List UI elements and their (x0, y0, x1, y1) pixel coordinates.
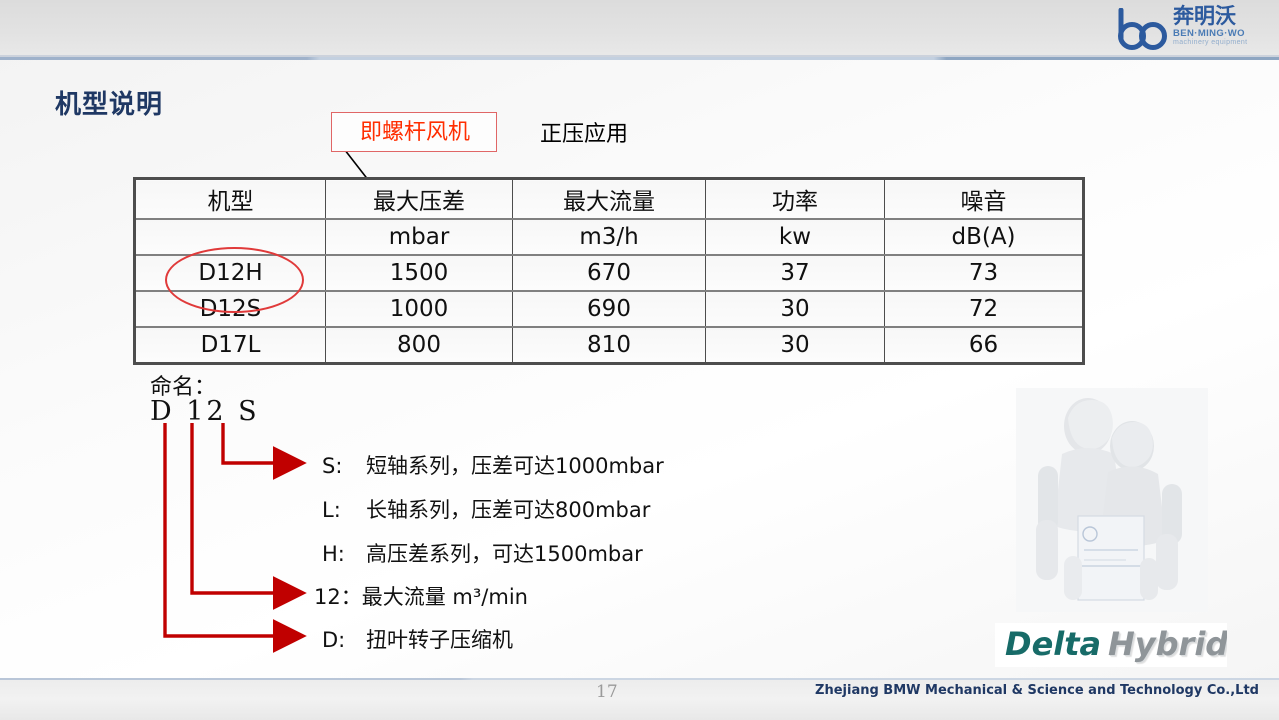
logo-english-name: BEN·MING·WO (1173, 28, 1245, 39)
cell-max-pressure: 800 (326, 327, 513, 364)
cell-model: D17L (135, 327, 326, 364)
legend-item-d: D:扭叶转子压缩机 (322, 624, 513, 654)
legend-desc-h: 高压差系列，可达1500mbar (366, 542, 643, 566)
header-cell-power: 功率 (706, 179, 885, 220)
screw-blower-callout-box: 即螺杆风机 (331, 112, 497, 152)
table-row: D12S 1000 690 30 72 (135, 291, 1084, 327)
logo-chinese-name: 奔明沃 (1173, 5, 1236, 27)
header-cell-model: 机型 (135, 179, 326, 220)
header-cell-max-flow: 最大流量 (513, 179, 706, 220)
unit-cell-max-flow: m3/h (513, 219, 706, 255)
legend-desc-12: 最大流量 m³/min (362, 585, 528, 609)
legend-item-12: 12：最大流量 m³/min (314, 581, 528, 611)
logo-tagline: machinery equipment (1173, 39, 1248, 46)
unit-cell-max-pressure: mbar (326, 219, 513, 255)
legend-key-s: S: (322, 454, 366, 478)
legend-item-h: H:高压差系列，可达1500mbar (322, 538, 643, 568)
callout-label: 即螺杆风机 (332, 113, 498, 153)
cell-model: D12H (135, 255, 326, 291)
cell-max-pressure: 1500 (326, 255, 513, 291)
footer-company-name: Zhejiang BMW Mechanical & Science and Te… (815, 683, 1259, 698)
cell-power: 30 (706, 327, 885, 364)
cell-noise: 66 (885, 327, 1084, 364)
naming-code-sample: D 12 S (150, 396, 260, 427)
delta-logo-primary: Delta (1005, 625, 1101, 663)
bo-monogram-icon (1115, 8, 1171, 50)
table-row: D12H 1500 670 37 73 (135, 255, 1084, 291)
cell-power: 37 (706, 255, 885, 291)
delta-logo-secondary: Hybrid (1108, 625, 1227, 663)
unit-cell-noise: dB(A) (885, 219, 1084, 255)
header-divider-line (0, 57, 1279, 60)
cell-power: 30 (706, 291, 885, 327)
product-photo (1016, 388, 1208, 612)
positive-pressure-note: 正压应用 (540, 116, 628, 148)
cell-max-flow: 670 (513, 255, 706, 291)
legend-key-h: H: (322, 542, 366, 566)
model-spec-table: 机型 最大压差 最大流量 功率 噪音 mbar m3/h kw dB(A) D1… (133, 177, 1085, 365)
cell-model: D12S (135, 291, 326, 327)
slide-canvas: 奔明沃 BEN·MING·WO machinery equipment 机型说明… (0, 0, 1279, 720)
legend-item-s: S:短轴系列，压差可达1000mbar (322, 450, 664, 480)
header-cell-noise: 噪音 (885, 179, 1084, 220)
cell-max-flow: 810 (513, 327, 706, 364)
cell-noise: 73 (885, 255, 1084, 291)
page-title: 机型说明 (55, 84, 163, 121)
legend-desc-s: 短轴系列，压差可达1000mbar (366, 454, 664, 478)
table-header-row: 机型 最大压差 最大流量 功率 噪音 (135, 179, 1084, 220)
delta-hybrid-logo: Delta Hybrid (995, 623, 1227, 667)
legend-item-l: L:长轴系列，压差可达800mbar (322, 494, 650, 524)
cell-noise: 72 (885, 291, 1084, 327)
header-cell-max-pressure: 最大压差 (326, 179, 513, 220)
table-row: D17L 800 810 30 66 (135, 327, 1084, 364)
legend-desc-d: 扭叶转子压缩机 (366, 628, 513, 652)
legend-key-d: D: (322, 628, 366, 652)
page-number: 17 (596, 682, 618, 702)
legend-desc-l: 长轴系列，压差可达800mbar (366, 498, 650, 522)
legend-key-12: 12： (314, 585, 362, 609)
cell-max-pressure: 1000 (326, 291, 513, 327)
table-units-row: mbar m3/h kw dB(A) (135, 219, 1084, 255)
robots-illustration-icon (1016, 388, 1208, 612)
legend-key-l: L: (322, 498, 366, 522)
header-band (0, 0, 1279, 58)
cell-max-flow: 690 (513, 291, 706, 327)
footer-divider-line (0, 678, 1279, 680)
unit-cell-model (135, 219, 326, 255)
company-logo: 奔明沃 BEN·MING·WO machinery equipment (1115, 4, 1265, 54)
unit-cell-power: kw (706, 219, 885, 255)
